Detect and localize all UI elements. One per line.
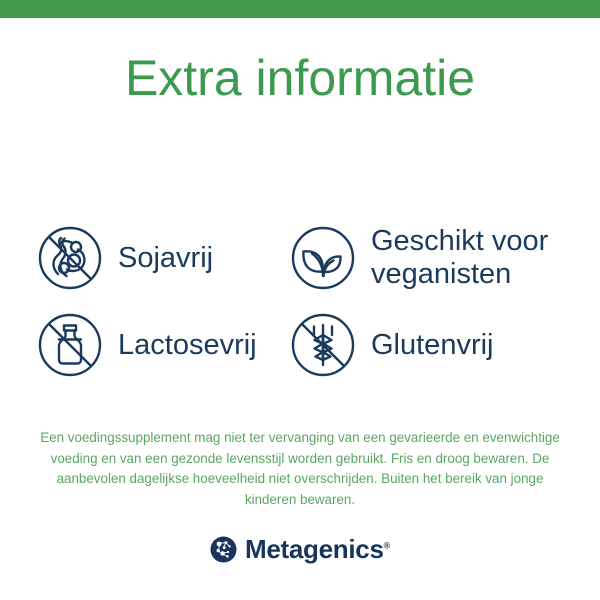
badge-label-lactosevrij: Lactosevrij [118, 329, 257, 362]
badge-sojavrij: Sojavrij [36, 212, 289, 304]
brand-wordmark: Metagenics® [245, 534, 390, 565]
page-title: Extra informatie [0, 48, 600, 108]
badge-label-veganisten: Geschikt voor veganisten [371, 225, 571, 291]
metagenics-molecule-icon [210, 536, 237, 563]
badge-label-sojavrij: Sojavrij [118, 242, 213, 275]
badge-lactosevrij: Lactosevrij [36, 304, 289, 386]
top-accent-bar [0, 0, 600, 18]
badge-glutenvrij: Glutenvrij [289, 304, 572, 386]
attribute-badge-grid: Sojavrij Geschikt voor veganisten [36, 212, 572, 386]
no-soy-icon [36, 224, 104, 292]
legal-disclaimer-text: Een voedingssupplement mag niet ter verv… [40, 428, 560, 510]
badge-veganisten: Geschikt voor veganisten [289, 212, 572, 304]
no-lactose-bottle-icon [36, 311, 104, 379]
registered-trademark-symbol: ® [384, 540, 390, 550]
product-info-card: Extra informatie Sojavrij [0, 0, 600, 600]
badge-label-glutenvrij: Glutenvrij [371, 329, 494, 362]
vegan-leaf-icon [289, 224, 357, 292]
no-gluten-wheat-icon [289, 311, 357, 379]
brand-name: Metagenics [245, 534, 384, 564]
brand-logo: Metagenics® [0, 534, 600, 565]
